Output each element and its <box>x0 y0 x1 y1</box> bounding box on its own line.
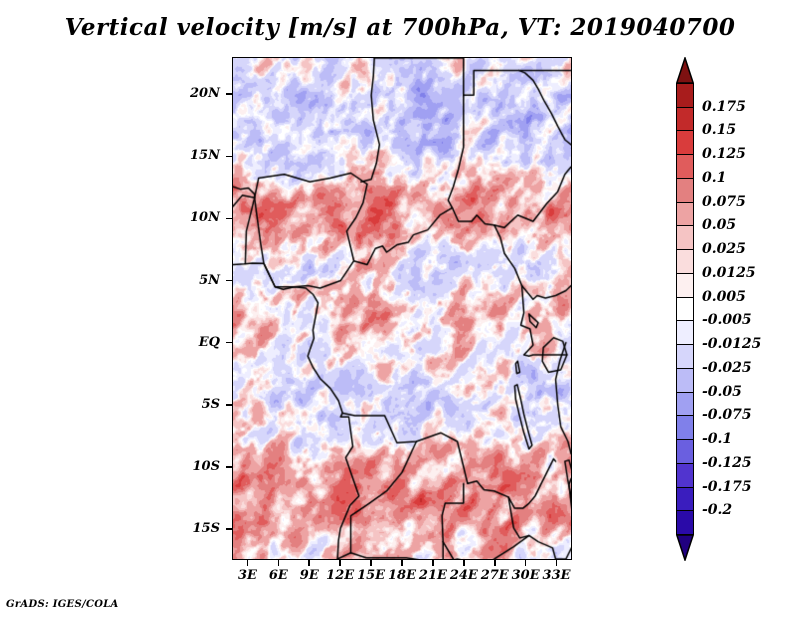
colorbar-tick-label: -0.175 <box>702 480 752 494</box>
map-plot-area <box>232 57 572 560</box>
y-axis-label: 10S <box>146 459 220 474</box>
x-tick-mark <box>401 560 403 566</box>
y-tick-mark <box>226 93 232 95</box>
colorbar-swatch <box>676 368 694 393</box>
country-borders-overlay <box>233 58 571 559</box>
colorbar-tick-label: 0.15 <box>702 123 736 137</box>
x-tick-mark <box>463 560 465 566</box>
y-tick-mark <box>226 156 232 158</box>
colorbar-swatch <box>676 154 694 179</box>
colorbar-swatch <box>676 415 694 440</box>
colorbar-tick-label: 0.005 <box>702 290 746 304</box>
colorbar-tick-label: -0.05 <box>702 385 742 399</box>
colorbar-swatch <box>676 320 694 345</box>
colorbar-swatch <box>676 392 694 417</box>
x-tick-mark <box>278 560 280 566</box>
y-tick-mark <box>226 404 232 406</box>
y-axis-label: 20N <box>146 86 220 101</box>
colorbar-tick-label: -0.005 <box>702 313 752 327</box>
page-title: Vertical velocity [m/s] at 700hPa, VT: 2… <box>0 14 800 41</box>
colorbar-tick-label: -0.125 <box>702 456 752 470</box>
colorbar-swatch <box>676 130 694 155</box>
colorbar-tick-label: 0.1 <box>702 171 726 185</box>
colorbar-swatch <box>676 297 694 322</box>
x-tick-mark <box>525 560 527 566</box>
y-tick-mark <box>226 466 232 468</box>
colorbar-swatch <box>676 83 694 108</box>
colorbar-tick-label: -0.0125 <box>702 337 761 351</box>
colorbar-swatch <box>676 202 694 227</box>
colorbar-tick-label: 0.025 <box>702 242 746 256</box>
colorbar-tick-label: 0.075 <box>702 195 746 209</box>
colorbar-swatch <box>676 273 694 298</box>
colorbar-tick-label: 0.0125 <box>702 266 756 280</box>
y-axis-label: 5S <box>146 397 220 412</box>
x-tick-mark <box>247 560 249 566</box>
colorbar: 0.1750.150.1250.10.0750.050.0250.01250.0… <box>676 57 796 560</box>
colorbar-tick-label: 0.05 <box>702 218 736 232</box>
y-tick-mark <box>226 280 232 282</box>
y-axis-label: 15N <box>146 148 220 163</box>
colorbar-swatch <box>676 225 694 250</box>
y-axis-label: EQ <box>146 335 220 350</box>
colorbar-swatch <box>676 249 694 274</box>
y-axis-label: 10N <box>146 210 220 225</box>
x-tick-mark <box>339 560 341 566</box>
x-tick-mark <box>494 560 496 566</box>
colorbar-swatch <box>676 107 694 132</box>
colorbar-tick-label: -0.2 <box>702 503 732 517</box>
x-tick-mark <box>370 560 372 566</box>
colorbar-tick-label: 0.125 <box>702 147 746 161</box>
colorbar-swatch <box>676 487 694 512</box>
colorbar-swatch <box>676 510 694 535</box>
colorbar-cap-max <box>676 57 694 83</box>
y-tick-mark <box>226 218 232 220</box>
colorbar-tick-label: 0.175 <box>702 100 746 114</box>
y-axis-label: 15S <box>146 521 220 536</box>
y-tick-mark <box>226 342 232 344</box>
x-tick-mark <box>432 560 434 566</box>
colorbar-swatch <box>676 344 694 369</box>
x-tick-mark <box>556 560 558 566</box>
colorbar-tick-label: -0.025 <box>702 361 752 375</box>
colorbar-cap-min <box>676 534 694 560</box>
y-axis-label: 5N <box>146 273 220 288</box>
colorbar-tick-label: -0.1 <box>702 432 732 446</box>
footer-credit: GrADS: IGES/COLA <box>6 599 119 610</box>
x-axis-label: 33E <box>535 568 579 583</box>
colorbar-swatch <box>676 178 694 203</box>
x-tick-mark <box>308 560 310 566</box>
colorbar-tick-label: -0.075 <box>702 408 752 422</box>
colorbar-swatch <box>676 463 694 488</box>
y-tick-mark <box>226 528 232 530</box>
colorbar-swatch <box>676 439 694 464</box>
